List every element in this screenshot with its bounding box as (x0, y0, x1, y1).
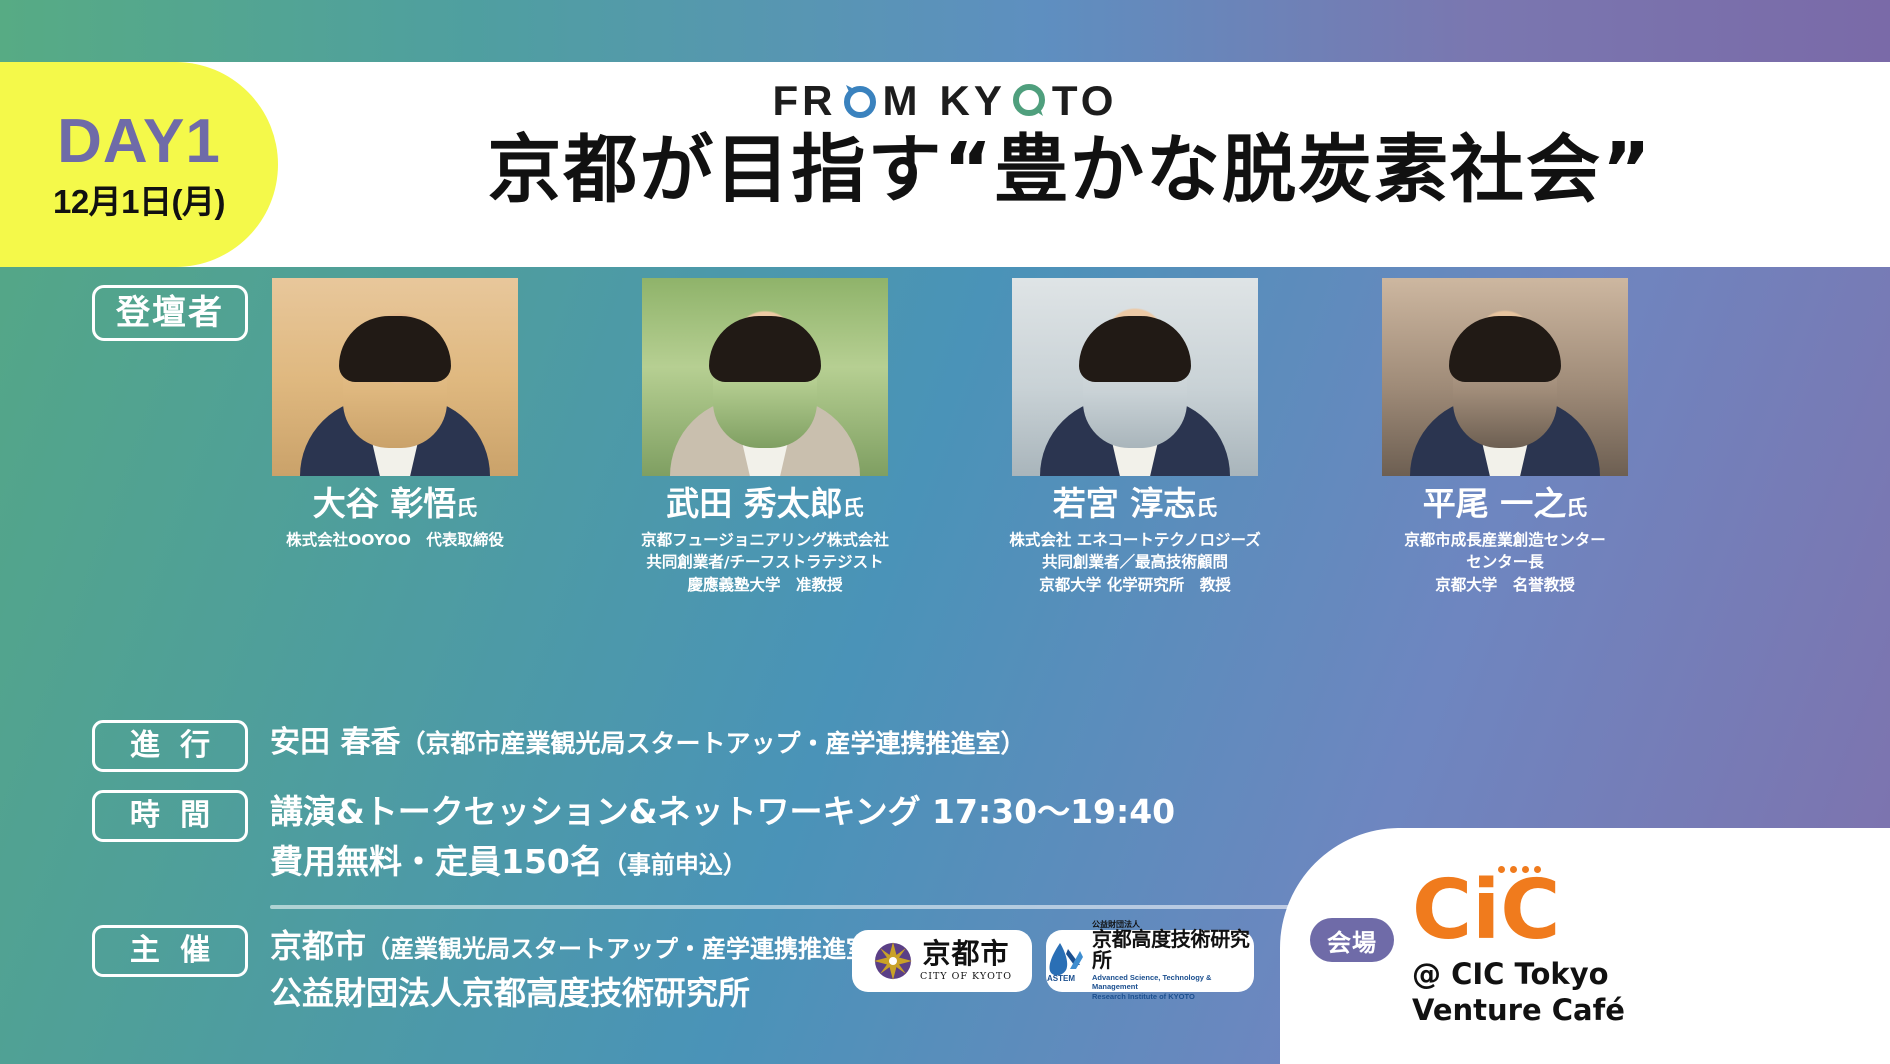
host-row: 主 催 京都市（産業観光局スタートアップ・産学連携推進室） 公益財団法人京都高度… (92, 925, 894, 1013)
speaker-name: 大谷 彰悟氏 (313, 487, 478, 520)
mc-row: 進 行 安田 春香（京都市産業観光局スタートアップ・産学連携推進室） (92, 720, 1025, 772)
venue-card: 会場 CiC @ CIC Tokyo Venture Café (1280, 828, 1890, 1064)
cic-logo: CiC (1412, 870, 1625, 952)
time-value: 講演&トークセッション&ネットワーキング 17:30〜19:40 費用無料・定員… (270, 790, 1175, 883)
venue-address: @ CIC Tokyo Venture Café (1412, 956, 1625, 1029)
host-org-note: （産業観光局スタートアップ・産学連携推進室） (366, 935, 894, 963)
speakers-list: 大谷 彰悟氏 株式会社OOYOO 代表取締役 武田 秀太郎氏 京都フュージョニア… (270, 278, 1630, 608)
cic-logo-text: CiC (1412, 870, 1560, 952)
schedule-line-1: 講演&トークセッション&ネットワーキング 17:30〜19:40 (270, 792, 1175, 832)
speaker-name: 平尾 一之氏 (1423, 487, 1588, 520)
venue-label: 会場 (1310, 918, 1394, 962)
venue-line-2: Venture Café (1412, 992, 1625, 1028)
speaker-photo-takeda (642, 278, 888, 476)
kyoto-city-crest-icon (872, 940, 914, 982)
speaker-honorific: 氏 (843, 496, 864, 520)
venue-line-1: @ CIC Tokyo (1412, 956, 1625, 992)
speaker-photo-hirao (1382, 278, 1628, 476)
speaker-affiliation: 株式会社OOYOO 代表取締役 (286, 529, 504, 551)
host-value: 京都市（産業観光局スタートアップ・産学連携推進室） 公益財団法人京都高度技術研究… (270, 925, 894, 1013)
speaker-name: 若宮 淳志氏 (1053, 487, 1218, 520)
speaker-card: 大谷 彰悟氏 株式会社OOYOO 代表取締役 (270, 278, 520, 608)
speaker-photo-wakamiya (1012, 278, 1258, 476)
speaker-honorific: 氏 (1196, 496, 1217, 520)
kyoto-city-name-ja: 京都市 (922, 940, 1009, 968)
time-label: 時 間 (92, 790, 248, 842)
registration-note: （事前申込） (603, 851, 747, 879)
venue-info: CiC @ CIC Tokyo Venture Café (1412, 870, 1625, 1029)
speaker-honorific: 氏 (456, 496, 477, 520)
host-label: 主 催 (92, 925, 248, 977)
event-poster: Kyo- Working FR M KY TO (0, 0, 1890, 1064)
kyoto-city-name-en: CITY OF KYOTO (920, 971, 1012, 982)
mc-name: 安田 春香 (270, 725, 400, 760)
kyoto-city-logo: 京都市 CITY OF KYOTO (852, 930, 1032, 992)
kyoto-city-wordmark: 京都市 CITY OF KYOTO (920, 940, 1012, 982)
speaker-affiliation: 京都市成長産業創造センター センター長 京都大学 名誉教授 (1404, 529, 1606, 596)
cic-dots-icon (1498, 866, 1541, 873)
astem-name-ja: 京都高度技術研究所 (1092, 930, 1254, 972)
speaker-card: 平尾 一之氏 京都市成長産業創造センター センター長 京都大学 名誉教授 (1380, 278, 1630, 608)
speaker-photo-otani (272, 278, 518, 476)
day-date-label: 12月1日(月) (53, 185, 225, 218)
mc-value: 安田 春香（京都市産業観光局スタートアップ・産学連携推進室） (270, 720, 1025, 762)
astem-wordmark: 公益財団法人 京都高度技術研究所 Advanced Science, Techn… (1092, 921, 1254, 1001)
astem-name-en-1: Advanced Science, Technology & Managemen… (1092, 973, 1254, 991)
mc-label: 進 行 (92, 720, 248, 772)
host-line-2: 公益財団法人京都高度技術研究所 (270, 974, 894, 1013)
schedule-line-2: 費用無料・定員150名（事前申込） (270, 842, 1175, 882)
astem-mark-icon: ASTEM (1046, 939, 1088, 983)
astem-logo: ASTEM 公益財団法人 京都高度技術研究所 Advanced Science,… (1046, 930, 1254, 992)
speaker-affiliation: 株式会社 エネコートテクノロジーズ 共同創業者／最高技術顧問 京都大学 化学研究… (1009, 529, 1260, 596)
page-title: 京都が目指す“豊かな脱炭素社会” (290, 132, 1850, 210)
host-org-main: 京都市 (270, 927, 366, 965)
day-number-label: DAY1 (57, 111, 221, 173)
top-bar (0, 0, 1890, 62)
speaker-affiliation: 京都フュージョニアリング株式会社 共同創業者/チーフストラテジスト 慶應義塾大学… (641, 529, 889, 596)
host-line-1: 京都市（産業観光局スタートアップ・産学連携推進室） (270, 927, 894, 966)
time-row: 時 間 講演&トークセッション&ネットワーキング 17:30〜19:40 費用無… (92, 790, 1175, 883)
day-badge: DAY1 12月1日(月) (0, 62, 278, 267)
speaker-card: 武田 秀太郎氏 京都フュージョニアリング株式会社 共同創業者/チーフストラテジス… (640, 278, 890, 608)
speakers-label: 登壇者 (92, 285, 248, 341)
speaker-honorific: 氏 (1566, 496, 1587, 520)
mc-org: （京都市産業観光局スタートアップ・産学連携推進室） (400, 729, 1025, 758)
fee-capacity: 費用無料・定員150名 (270, 842, 603, 881)
speaker-name: 武田 秀太郎氏 (666, 487, 864, 520)
svg-text:ASTEM: ASTEM (1047, 974, 1075, 983)
speaker-card: 若宮 淳志氏 株式会社 エネコートテクノロジーズ 共同創業者／最高技術顧問 京都… (1010, 278, 1260, 608)
astem-name-en-2: Research Institute of KYOTO (1092, 992, 1254, 1001)
